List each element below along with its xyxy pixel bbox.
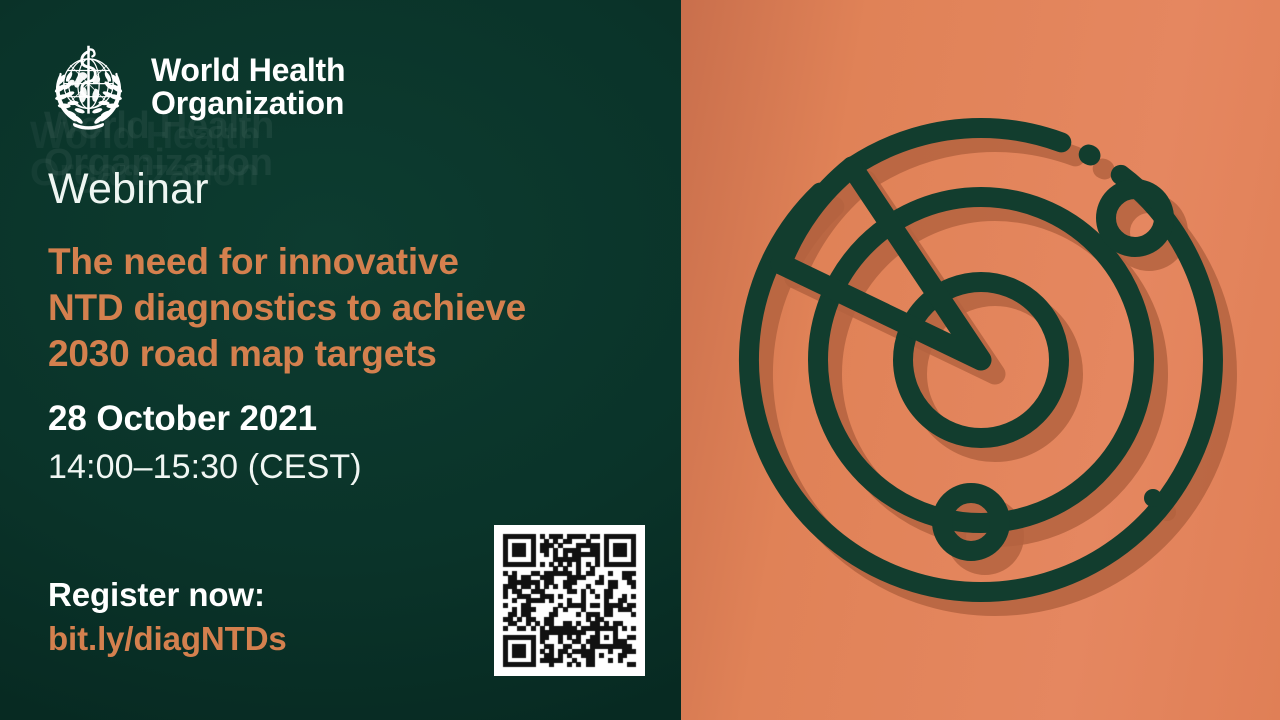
register-link[interactable]: bit.ly/diagNTDs [48, 622, 287, 655]
title-line-3: 2030 road map targets [48, 331, 608, 377]
who-logo: World Health Organization [40, 38, 345, 135]
event-time: 14:00–15:30 (CEST) [48, 450, 362, 484]
who-wordmark-line-2: Organization [151, 87, 345, 120]
qr-code-canvas[interactable] [494, 525, 645, 676]
event-type-label: Webinar [48, 168, 209, 211]
left-info-panel: World Health Organization World Health O… [0, 0, 681, 720]
radar-illustration [721, 100, 1241, 620]
register-label: Register now: [48, 578, 265, 611]
event-date: 28 October 2021 [48, 401, 317, 436]
right-illustration-panel [681, 0, 1280, 720]
gap-dot [1144, 489, 1162, 507]
webinar-promo-poster: World Health Organization World Health O… [0, 0, 1280, 720]
radar-line-art [748, 128, 1212, 592]
page-title: The need for innovative NTD diagnostics … [48, 239, 608, 377]
who-wordmark: World Health Organization [151, 54, 345, 119]
title-line-2: NTD diagnostics to achieve [48, 285, 608, 331]
who-emblem-icon [40, 38, 137, 135]
title-line-1: The need for innovative [48, 239, 608, 285]
qr-code[interactable] [494, 525, 645, 676]
who-wordmark-line-1: World Health [151, 54, 345, 87]
